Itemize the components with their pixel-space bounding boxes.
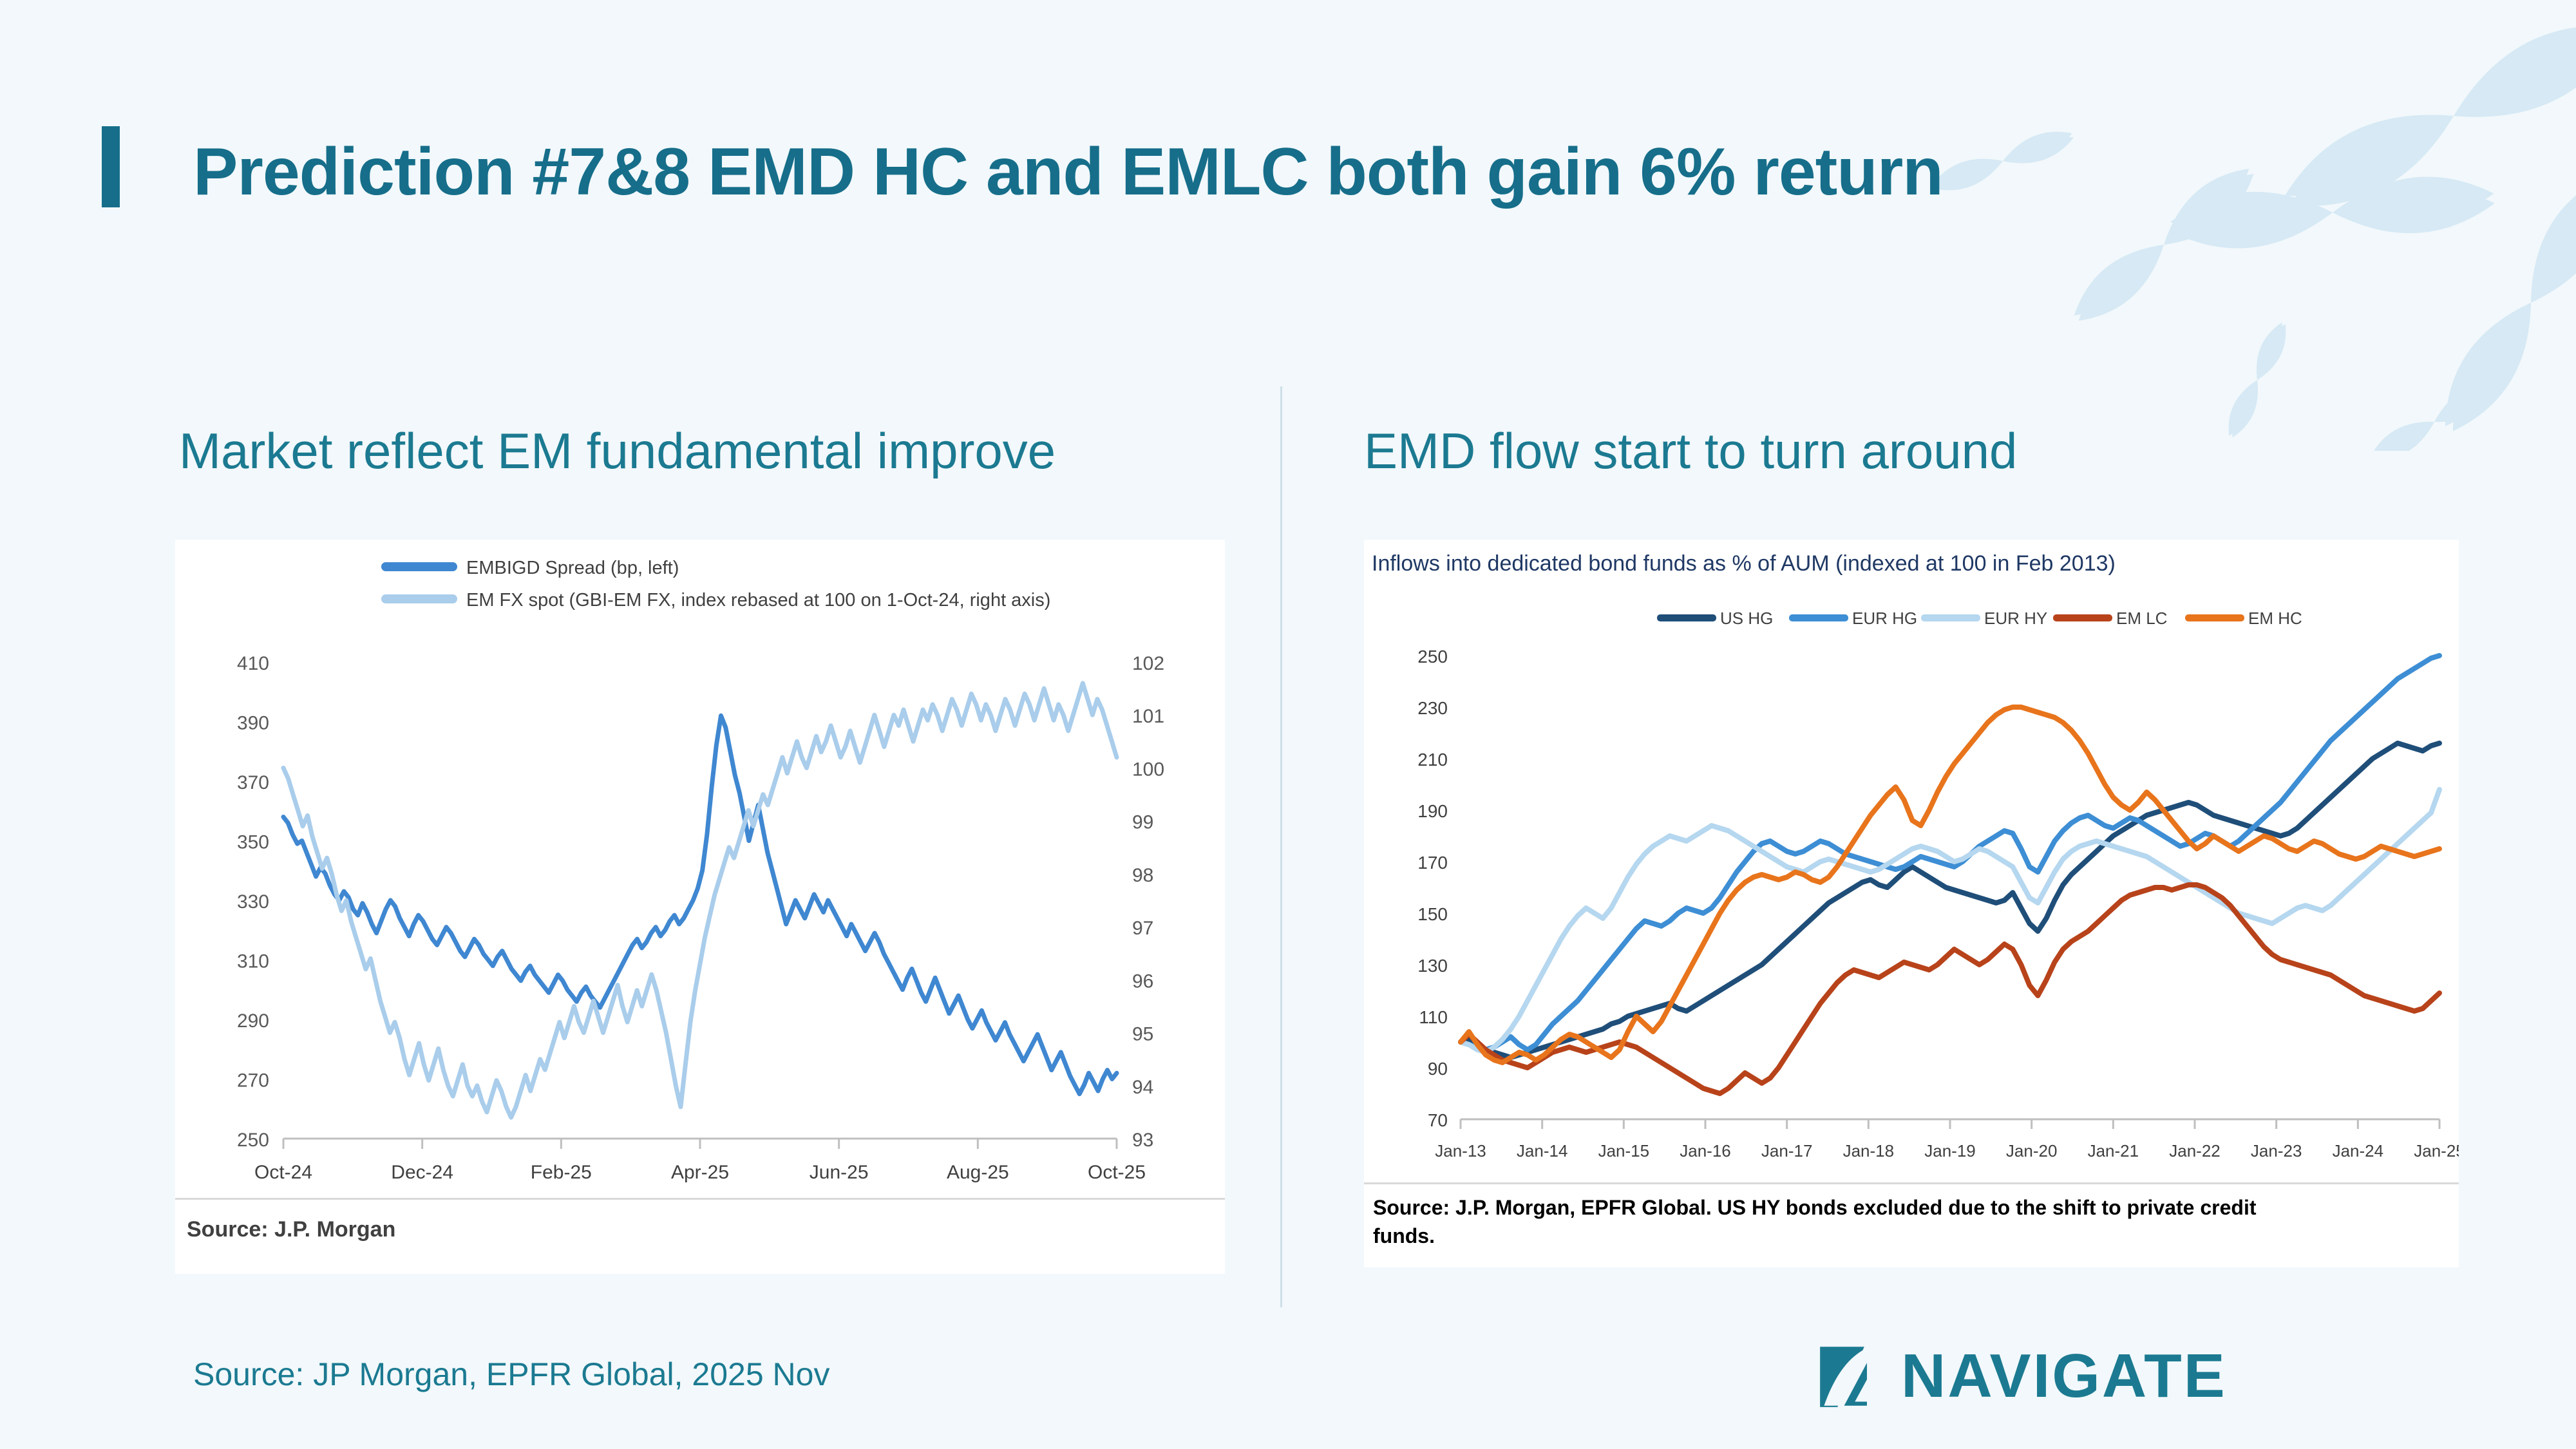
y-axis-tick-label: 210	[1417, 750, 1448, 770]
legend-label: EM FX spot (GBI-EM FX, index rebased at …	[466, 590, 1050, 611]
y-axis-tick-label: 150	[1417, 904, 1448, 924]
navigate-logo-mark-icon	[1817, 1343, 1884, 1410]
legend-swatch	[1789, 614, 1848, 621]
left-axis-tick-label: 330	[237, 891, 269, 913]
left-chart-line	[283, 715, 1117, 1094]
right-chart-footer-rule	[1364, 1182, 2459, 1184]
title-accent-bar	[102, 126, 120, 207]
right-axis-tick-label: 94	[1132, 1077, 1153, 1098]
left-axis-tick-label: 350	[237, 832, 269, 853]
left-axis-tick-label: 410	[237, 653, 269, 674]
left-chart: EMBIGD Spread (bp, left)EM FX spot (GBI-…	[175, 540, 1225, 1274]
left-chart-line	[283, 683, 1117, 1117]
right-axis-tick-label: 100	[1132, 759, 1164, 780]
legend-label: EUR HY	[1984, 609, 2047, 628]
legend-label: EUR HG	[1852, 609, 1917, 628]
left-chart-footer-rule	[175, 1198, 1225, 1200]
legend-label: US HG	[1720, 609, 1773, 628]
left-axis-tick-label: 250	[237, 1130, 269, 1151]
x-axis-tick-label: Jan-17	[1761, 1141, 1813, 1160]
left-axis-tick-label: 310	[237, 951, 269, 972]
x-axis-tick-label: Jan-14	[1517, 1141, 1568, 1160]
y-axis-tick-label: 90	[1428, 1059, 1448, 1079]
column-divider	[1280, 386, 1282, 1307]
x-axis-tick-label: Dec-24	[391, 1162, 453, 1183]
legend-swatch	[381, 594, 457, 603]
right-axis-tick-label: 93	[1132, 1130, 1153, 1151]
right-chart-card: Inflows into dedicated bond funds as % o…	[1364, 540, 2459, 1267]
right-column-heading: EMD flow start to turn around	[1364, 422, 2017, 480]
legend-swatch	[1921, 614, 1980, 621]
page-title: Prediction #7&8 EMD HC and EMLC both gai…	[193, 135, 1943, 209]
x-axis-tick-label: Jan-23	[2251, 1141, 2302, 1160]
y-axis-tick-label: 170	[1417, 853, 1448, 873]
x-axis-tick-label: Aug-25	[947, 1162, 1009, 1183]
left-axis-tick-label: 370	[237, 772, 269, 793]
y-axis-tick-label: 110	[1419, 1007, 1448, 1027]
right-chart-title: Inflows into dedicated bond funds as % o…	[1372, 551, 2116, 576]
x-axis-tick-label: Jan-18	[1843, 1141, 1895, 1160]
legend-label: EM LC	[2116, 609, 2167, 628]
slide-root: Prediction #7&8 EMD HC and EMLC both gai…	[0, 0, 2576, 1449]
x-axis-tick-label: Jan-13	[1435, 1141, 1486, 1160]
right-axis-tick-label: 101	[1132, 706, 1164, 727]
right-axis-tick-label: 98	[1132, 865, 1153, 886]
x-axis-tick-label: Jan-21	[2088, 1141, 2139, 1160]
x-axis-tick-label: Jan-20	[2006, 1141, 2058, 1160]
x-axis-tick-label: Oct-25	[1088, 1162, 1146, 1183]
y-axis-tick-label: 230	[1417, 698, 1448, 718]
x-axis-tick-label: Jan-25	[2414, 1141, 2459, 1160]
decorative-pinwheel-pattern	[1674, 0, 2576, 451]
left-chart-legend: EMBIGD Spread (bp, left)EM FX spot (GBI-…	[381, 558, 1050, 611]
right-axis-tick-label: 99	[1132, 812, 1153, 833]
navigate-logo: NAVIGATE	[1817, 1343, 2227, 1410]
left-column-heading: Market reflect EM fundamental improve	[179, 422, 1056, 480]
navigate-logo-text: NAVIGATE	[1901, 1345, 2227, 1407]
legend-label: EMBIGD Spread (bp, left)	[466, 558, 679, 578]
x-axis-tick-label: Jan-22	[2169, 1141, 2221, 1160]
right-chart-source: Source: J.P. Morgan, EPFR Global. US HY …	[1373, 1196, 2257, 1247]
x-axis-tick-label: Jan-24	[2333, 1141, 2384, 1160]
legend-swatch	[381, 562, 457, 571]
right-axis-tick-label: 97	[1132, 918, 1153, 939]
x-axis-tick-label: Jan-15	[1598, 1141, 1650, 1160]
right-axis-tick-label: 95	[1132, 1024, 1153, 1045]
left-axis-tick-label: 270	[237, 1070, 269, 1092]
left-chart-card: EMBIGD Spread (bp, left)EM FX spot (GBI-…	[175, 540, 1225, 1274]
y-axis-tick-label: 130	[1417, 956, 1448, 976]
y-axis-tick-label: 190	[1417, 801, 1448, 821]
right-axis-tick-label: 96	[1132, 971, 1153, 992]
right-chart: Inflows into dedicated bond funds as % o…	[1364, 540, 2459, 1267]
x-axis-tick-label: Jan-16	[1680, 1141, 1731, 1160]
right-axis-tick-label: 102	[1132, 653, 1164, 674]
x-axis-tick-label: Jan-19	[1924, 1141, 1976, 1160]
x-axis-tick-label: Apr-25	[671, 1162, 729, 1183]
legend-swatch	[2185, 614, 2244, 621]
y-axis-tick-label: 250	[1417, 647, 1448, 667]
x-axis-tick-label: Feb-25	[531, 1162, 592, 1183]
left-axis-tick-label: 290	[237, 1010, 269, 1032]
x-axis-tick-label: Jun-25	[810, 1162, 869, 1183]
legend-label: EM HC	[2248, 609, 2302, 628]
footer-source-text: Source: JP Morgan, EPFR Global, 2025 Nov	[193, 1356, 829, 1393]
left-axis-tick-label: 390	[237, 713, 269, 734]
right-chart-line	[1461, 656, 2439, 1050]
left-chart-source: Source: J.P. Morgan	[187, 1217, 395, 1242]
legend-swatch	[2053, 614, 2112, 621]
right-chart-legend: US HGEUR HGEUR HYEM LCEM HC	[1657, 609, 2302, 628]
y-axis-tick-label: 70	[1428, 1110, 1448, 1130]
right-chart-line	[1461, 707, 2439, 1063]
legend-swatch	[1657, 614, 1716, 621]
x-axis-tick-label: Oct-24	[254, 1162, 312, 1183]
